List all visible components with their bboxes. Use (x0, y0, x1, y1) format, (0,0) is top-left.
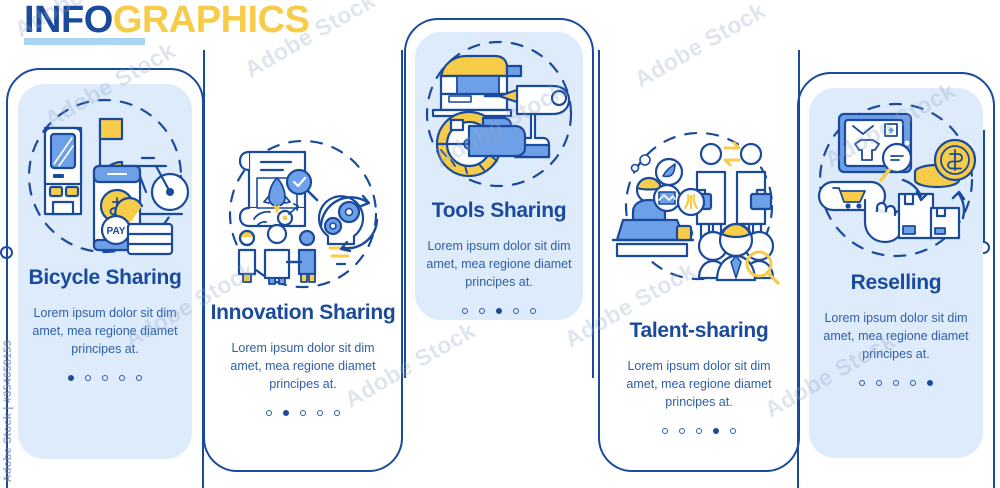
step-dot-4[interactable] (119, 375, 125, 381)
step-dot-2[interactable] (876, 380, 882, 386)
card-description: Lorem ipsum dolor sit dim amet, mea regi… (6, 304, 204, 358)
svg-text:PAY: PAY (107, 226, 126, 237)
title-underline-rule (24, 38, 145, 45)
step-dot-2[interactable] (479, 308, 485, 314)
step-dot-1[interactable] (662, 428, 668, 434)
card-description: Lorem ipsum dolor sit dim amet, mea regi… (797, 309, 995, 363)
card-text-block: Talent-sharing Lorem ipsum dolor sit dim… (598, 318, 800, 434)
lightbulb-gears-icon (319, 196, 377, 264)
step-dot-1[interactable] (462, 308, 468, 314)
parcel-boxes-icon (899, 194, 959, 238)
circular-saw-icon (437, 112, 525, 176)
card-illustration: PAY (6, 94, 204, 264)
card-talent-sharing[interactable]: Talent-sharing Lorem ipsum dolor sit dim… (598, 110, 800, 472)
step-dot-4[interactable] (713, 428, 719, 434)
infographic-canvas: INFOGRAPHICS (0, 0, 1000, 488)
step-dot-3[interactable] (696, 428, 702, 434)
card-title: Innovation Sharing (203, 300, 403, 325)
step-dot-4[interactable] (513, 308, 519, 314)
step-dot-5[interactable] (730, 428, 736, 434)
step-indicator[interactable] (6, 375, 204, 381)
step-dot-2[interactable] (283, 410, 289, 416)
step-indicator[interactable] (797, 380, 995, 386)
card-illustration (797, 96, 995, 266)
card-description: Lorem ipsum dolor sit dim amet, mea regi… (203, 339, 403, 393)
card-text-block: Innovation Sharing Lorem ipsum dolor sit… (203, 300, 403, 416)
step-dot-5[interactable] (136, 375, 142, 381)
card-title: Tools Sharing (404, 198, 594, 223)
step-dot-1[interactable] (68, 375, 74, 381)
card-illustration (598, 128, 800, 288)
step-dot-4[interactable] (910, 380, 916, 386)
card-bicycle-sharing[interactable]: PAY Bicycle Sharing Lorem ipsum dolor si… (6, 68, 204, 488)
candidate-search-icon (699, 224, 778, 283)
card-illustration (404, 36, 594, 196)
card-description: Lorem ipsum dolor sit dim amet, mea regi… (598, 357, 800, 411)
payment-kiosk-icon (45, 128, 81, 214)
step-indicator[interactable] (598, 428, 800, 434)
step-dot-5[interactable] (927, 380, 933, 386)
card-description: Lorem ipsum dolor sit dim amet, mea regi… (404, 237, 594, 291)
step-dot-3[interactable] (300, 410, 306, 416)
step-indicator[interactable] (203, 410, 403, 416)
card-innovation-sharing[interactable]: Innovation Sharing Lorem ipsum dolor sit… (203, 110, 403, 472)
card-title: Talent-sharing (598, 318, 800, 343)
card-illustration (203, 134, 403, 294)
step-dot-1[interactable] (266, 410, 272, 416)
card-reselling[interactable]: Reselling Lorem ipsum dolor sit dim amet… (797, 72, 995, 488)
title-part-info: INFO (24, 0, 113, 41)
card-text-block: Bicycle Sharing Lorem ipsum dolor sit di… (6, 265, 204, 381)
page-title: INFOGRAPHICS (24, 0, 309, 40)
step-dot-5[interactable] (334, 410, 340, 416)
step-dot-4[interactable] (317, 410, 323, 416)
card-tools-sharing[interactable]: Tools Sharing Lorem ipsum dolor sit dim … (404, 18, 594, 320)
card-title: Reselling (797, 270, 995, 295)
step-dot-3[interactable] (893, 380, 899, 386)
card-text-block: Tools Sharing Lorem ipsum dolor sit dim … (404, 198, 594, 314)
online-shop-icon (839, 114, 911, 180)
step-dot-3[interactable] (496, 308, 502, 314)
step-dot-1[interactable] (859, 380, 865, 386)
coins-icon (915, 140, 975, 187)
step-indicator[interactable] (404, 308, 594, 314)
card-text-block: Reselling Lorem ipsum dolor sit dim amet… (797, 270, 995, 386)
step-dot-2[interactable] (679, 428, 685, 434)
cart-click-icon (819, 182, 903, 242)
card-title: Bicycle Sharing (6, 265, 204, 290)
title-part-graphics: GRAPHICS (113, 0, 310, 41)
step-dot-2[interactable] (85, 375, 91, 381)
step-dot-5[interactable] (530, 308, 536, 314)
step-dot-3[interactable] (102, 375, 108, 381)
